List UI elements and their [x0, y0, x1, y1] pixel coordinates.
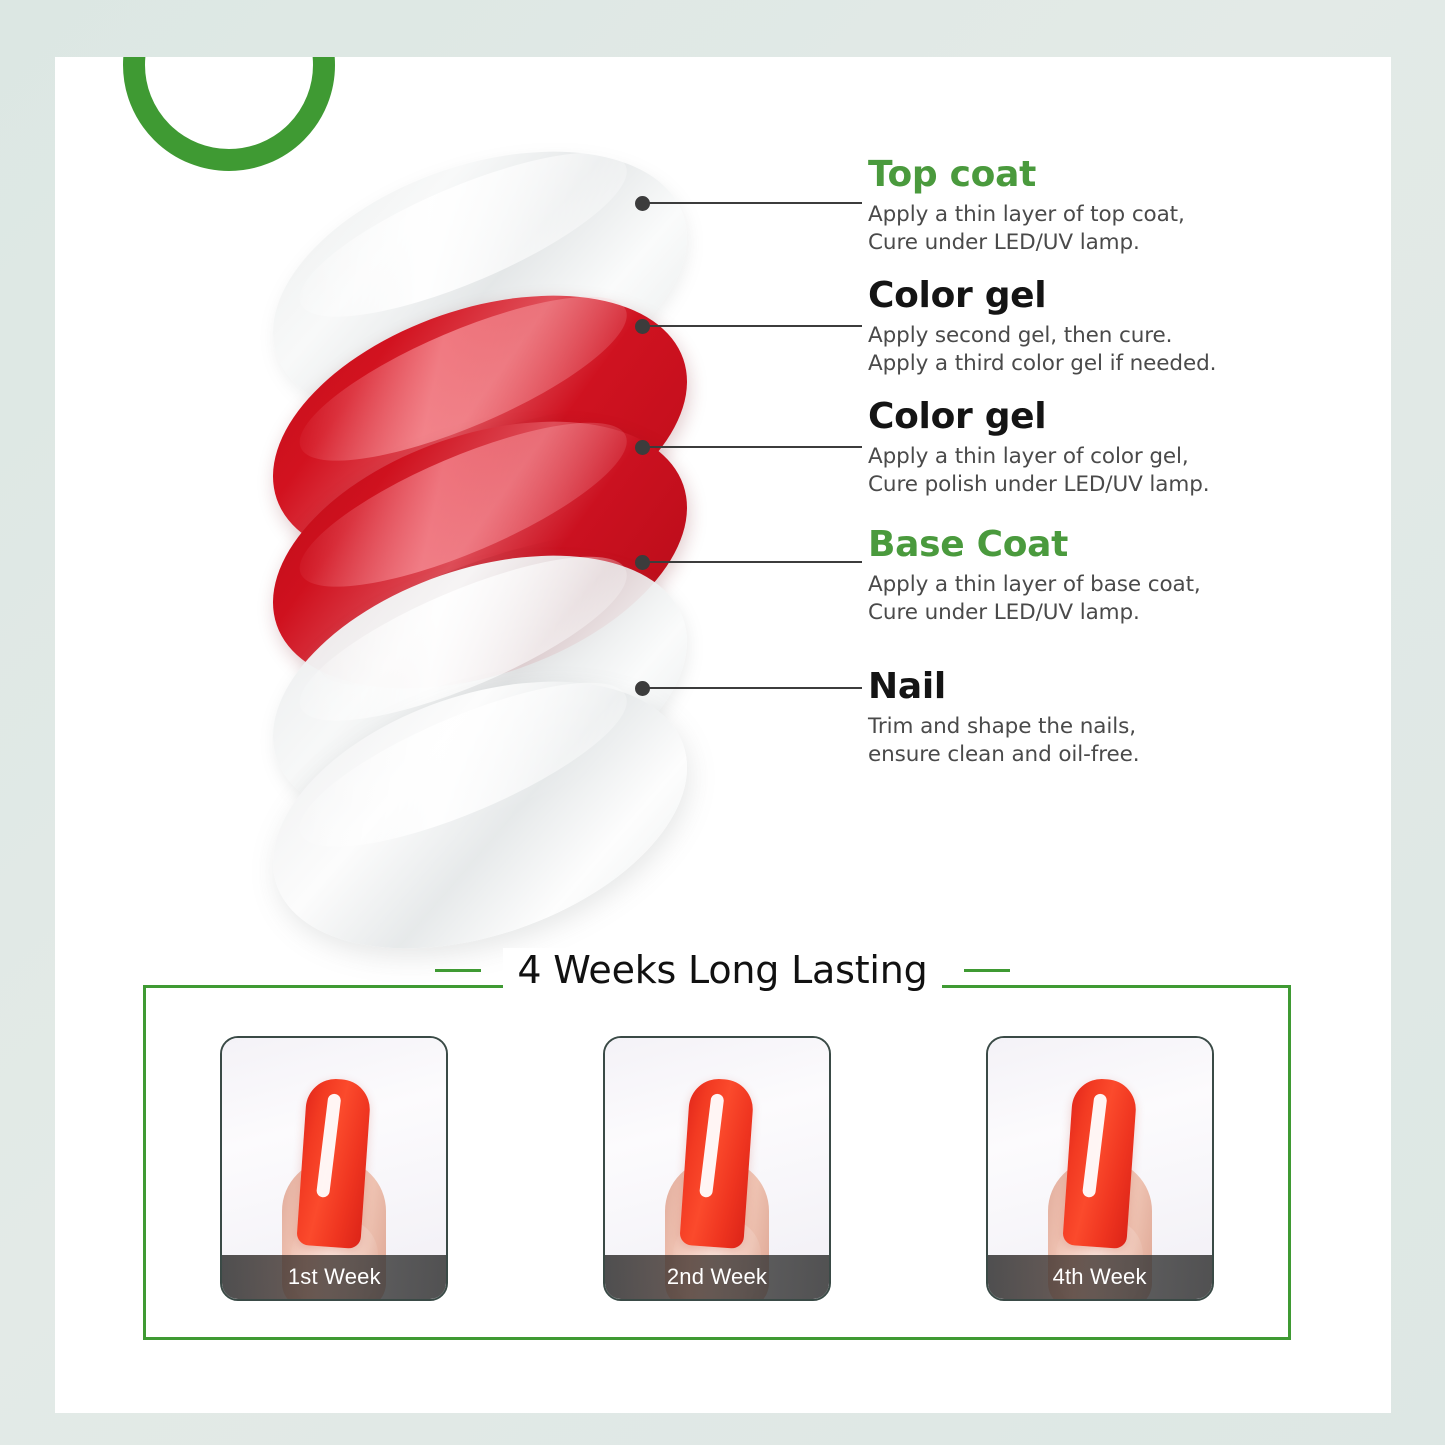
callout-desc-line-2: Cure under LED/UV lamp. — [868, 229, 1185, 257]
callout-desc-line-2: Cure polish under LED/UV lamp. — [868, 471, 1210, 499]
callout-color-gel-second: Color gel Apply second gel, then cure. A… — [868, 277, 1216, 379]
callout-line-color-gel-first — [647, 446, 862, 448]
week-thumbnail-label: 2nd Week — [667, 1264, 767, 1290]
callout-top-coat: Top coat Apply a thin layer of top coat,… — [868, 156, 1185, 258]
callout-title: Base Coat — [868, 526, 1201, 564]
callout-title: Color gel — [868, 277, 1216, 315]
callout-desc-line-2: ensure clean and oil-free. — [868, 741, 1140, 769]
callout-title: Top coat — [868, 156, 1185, 194]
callout-desc-line-1: Apply second gel, then cure. — [868, 322, 1216, 350]
callout-title: Nail — [868, 668, 1140, 706]
callout-desc-line-2: Apply a third color gel if needed. — [868, 350, 1216, 378]
title-rule-right — [964, 969, 1010, 972]
long-lasting-title: 4 Weeks Long Lasting — [503, 948, 941, 992]
week-thumbnail-label: 1st Week — [288, 1264, 381, 1290]
week-thumbnail-card[interactable]: 2nd Week — [603, 1036, 831, 1301]
nail-highlight — [316, 1093, 342, 1198]
week-thumbnail-card[interactable]: 4th Week — [986, 1036, 1214, 1301]
callout-desc-line-1: Apply a thin layer of color gel, — [868, 443, 1210, 471]
nail-highlight — [699, 1093, 725, 1198]
week-thumbnail-label-bar: 1st Week — [222, 1255, 446, 1299]
callout-base-coat: Base Coat Apply a thin layer of base coa… — [868, 526, 1201, 628]
week-thumbnail-label-bar: 2nd Week — [605, 1255, 829, 1299]
callout-line-top-coat — [647, 202, 862, 204]
callout-desc-line-2: Cure under LED/UV lamp. — [868, 599, 1201, 627]
week-thumbnail-label-bar: 4th Week — [988, 1255, 1212, 1299]
callout-desc-line-1: Apply a thin layer of base coat, — [868, 571, 1201, 599]
nail-highlight — [1082, 1093, 1108, 1198]
callout-nail: Nail Trim and shape the nails, ensure cl… — [868, 668, 1140, 770]
callout-color-gel-first: Color gel Apply a thin layer of color ge… — [868, 398, 1210, 500]
page-background: Top coat Apply a thin layer of top coat,… — [0, 0, 1445, 1445]
week-thumbnail-card[interactable]: 1st Week — [220, 1036, 448, 1301]
callout-desc-line-1: Trim and shape the nails, — [868, 713, 1140, 741]
week-thumbnail-list: 1st Week 2nd Week 4th Week — [143, 1036, 1291, 1301]
callout-line-nail — [647, 687, 862, 689]
callout-title: Color gel — [868, 398, 1210, 436]
callout-desc-line-1: Apply a thin layer of top coat, — [868, 201, 1185, 229]
week-thumbnail-label: 4th Week — [1053, 1264, 1147, 1290]
red-nail-illustration — [1062, 1077, 1138, 1249]
long-lasting-title-row: 4 Weeks Long Lasting — [0, 948, 1445, 992]
title-rule-left — [435, 969, 481, 972]
callout-line-base-coat — [647, 561, 862, 563]
red-nail-illustration — [297, 1077, 373, 1249]
callout-line-color-gel-second — [647, 325, 862, 327]
red-nail-illustration — [679, 1077, 755, 1249]
